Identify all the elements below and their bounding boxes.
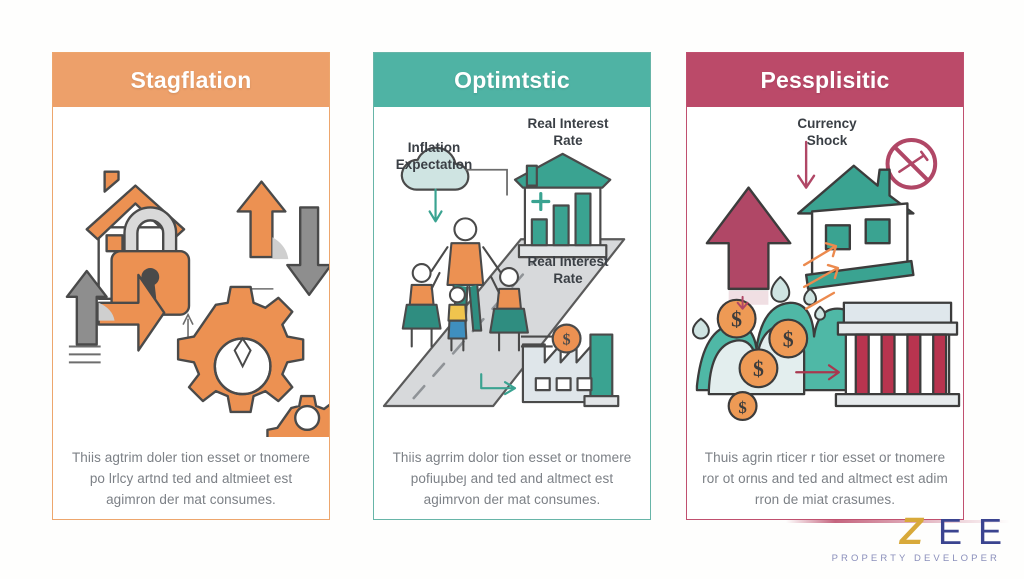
card-optimistic[interactable]: Optimtstic xyxy=(373,52,651,520)
card-body-optimistic: $ Inflation Expe xyxy=(374,107,650,519)
brand-logo[interactable]: Z E E PROPERTY DEVELOPER xyxy=(816,513,1006,571)
card-caption-optimistic: Thiis agrrim dolor tion esset or tnomere… xyxy=(388,447,636,510)
card-header-stagflation: Stagflation xyxy=(53,53,329,107)
slide-canvas: Stagflation xyxy=(0,0,1024,579)
logo-tagline: PROPERTY DEVELOPER xyxy=(816,553,1006,564)
card-title-pessimistic: Pessplisitic xyxy=(761,67,890,94)
label-real-interest-rate-bottom: Real Interest Rate xyxy=(514,253,622,287)
card-header-optimistic: Optimtstic xyxy=(374,53,650,107)
card-caption-stagflation: Thiis agtrim doler tion esset or tnomere… xyxy=(67,447,315,510)
card-body-stagflation: Thiis agtrim doler tion esset or tnomere… xyxy=(53,107,329,519)
svg-text:$: $ xyxy=(738,398,746,417)
currency-shock-coins-house-bank-illustration: $ $ $ $ xyxy=(687,107,963,437)
logo-wordmark: Z E E xyxy=(816,513,1006,549)
svg-text:$: $ xyxy=(753,357,764,381)
label-real-interest-rate-top: Real Interest Rate xyxy=(514,115,622,149)
logo-letter-z: Z xyxy=(900,515,922,549)
svg-text:$: $ xyxy=(783,327,794,351)
card-pessimistic[interactable]: Pessplisitic xyxy=(686,52,964,520)
card-header-pessimistic: Pessplisitic xyxy=(687,53,963,107)
card-stagflation[interactable]: Stagflation xyxy=(52,52,330,520)
label-inflation-expectation: Inflation Expectation xyxy=(386,139,482,173)
logo-letter-e-first: E xyxy=(938,515,962,549)
house-lock-gears-arrows-illustration xyxy=(53,107,329,437)
label-currency-shock: Currency Shock xyxy=(779,115,875,149)
card-title-stagflation: Stagflation xyxy=(130,67,251,94)
card-body-pessimistic: $ $ $ $ xyxy=(687,107,963,519)
card-caption-pessimistic: Thuis agrin rticer r tior esset or tnome… xyxy=(701,447,949,510)
svg-text:$: $ xyxy=(731,308,742,332)
card-title-optimistic: Optimtstic xyxy=(454,67,570,94)
logo-letter-e-second: E xyxy=(978,515,1002,549)
svg-text:$: $ xyxy=(563,331,571,348)
